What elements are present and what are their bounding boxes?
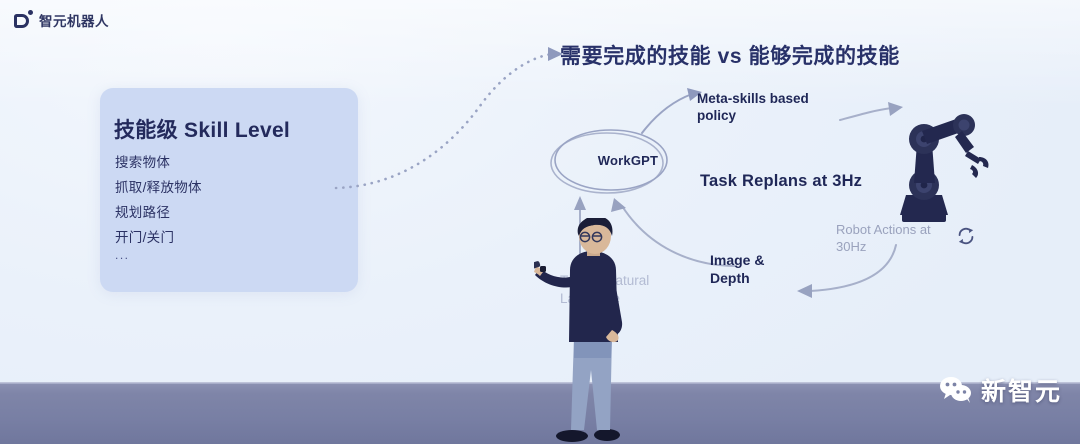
watermark: 新智元 [938, 372, 1062, 408]
brand-name: 智元机器人 [39, 10, 109, 30]
refresh-loop-icon [955, 225, 977, 247]
label-image-depth: Image & Depth [710, 251, 800, 287]
label-task-replans: Task Replans at 3Hz [700, 172, 862, 191]
skill-list: 搜索物体 抓取/释放物体 规划路径 开门/关门 [115, 150, 202, 250]
slide-title: 需要完成的技能 vs 能够完成的技能 [560, 40, 900, 70]
watermark-text: 新智元 [981, 372, 1062, 408]
brand-d-icon [14, 11, 32, 29]
wechat-icon [938, 376, 974, 404]
panel-ellipsis: ... [115, 248, 130, 262]
label-robot-actions: Robot Actions at 30Hz [836, 221, 956, 255]
list-item: 开门/关门 [115, 225, 202, 250]
label-meta-skills-policy: Meta-skills based policy [697, 90, 847, 124]
list-item: 抓取/释放物体 [115, 175, 202, 200]
list-item: 搜索物体 [115, 150, 202, 175]
brand-logo: 智元机器人 [14, 10, 109, 30]
panel-heading: 技能级 Skill Level [114, 114, 290, 144]
list-item: 规划路径 [115, 200, 202, 225]
presentation-stage: 智元机器人 需要完成的技能 vs 能够完成的技能 技能级 Skill Level… [0, 0, 1080, 444]
dotted-connector-arrow [330, 30, 580, 210]
node-label-workgpt: WorkGPT [578, 153, 678, 168]
skill-level-panel: 技能级 Skill Level 搜索物体 抓取/释放物体 规划路径 开门/关门 … [100, 88, 358, 292]
presenter-figure [534, 218, 652, 444]
robot-arm-icon [880, 105, 992, 230]
